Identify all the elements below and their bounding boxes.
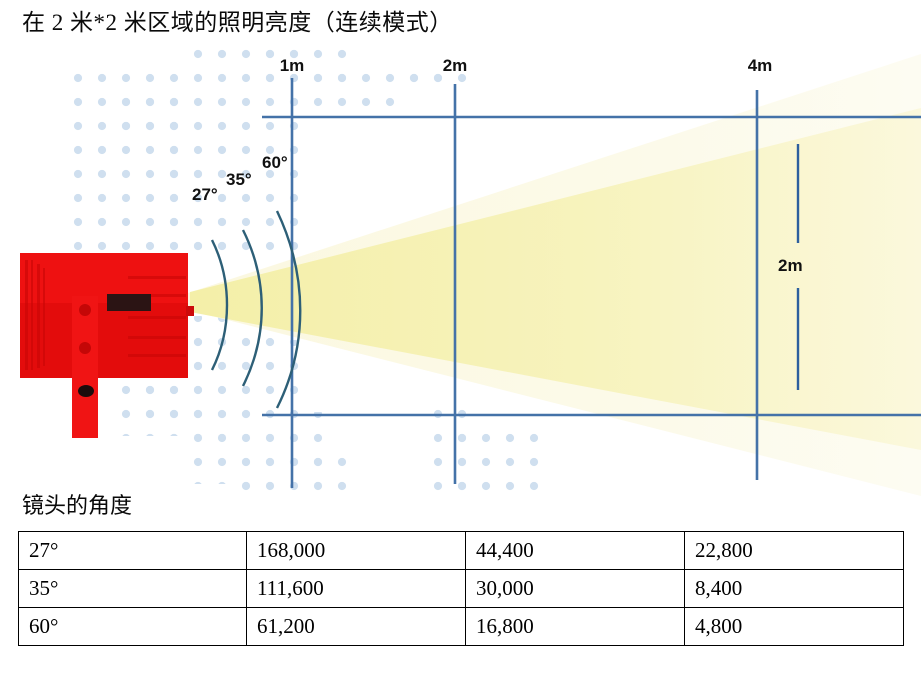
beam-diagram: 1m 2m 4m 27° 35° 60° 2m	[0, 48, 921, 498]
cell-value-4m: 4,800	[685, 608, 904, 646]
cell-angle: 60°	[19, 608, 247, 646]
cell-value-2m: 16,800	[466, 608, 685, 646]
distance-label-2m: 2m	[443, 56, 468, 75]
section-heading-lens-angle: 镜头的角度	[22, 492, 132, 520]
cell-angle: 27°	[19, 532, 247, 570]
table-row: 35° 111,600 30,000 8,400	[19, 570, 904, 608]
illuminance-table: 27° 168,000 44,400 22,800 35° 111,600 30…	[18, 531, 904, 646]
cell-value-2m: 30,000	[466, 570, 685, 608]
distance-label-1m: 1m	[280, 56, 305, 75]
cell-value-1m: 168,000	[247, 532, 466, 570]
cell-value-1m: 111,600	[247, 570, 466, 608]
cell-value-4m: 8,400	[685, 570, 904, 608]
angle-label-27: 27°	[192, 185, 218, 204]
table-row: 27° 168,000 44,400 22,800	[19, 532, 904, 570]
angle-label-60: 60°	[262, 153, 288, 172]
page-title: 在 2 米*2 米区域的照明亮度（连续模式）	[22, 8, 453, 38]
fixture-label-plate	[107, 294, 151, 311]
height-label-2m: 2m	[778, 256, 803, 275]
table-row: 60° 61,200 16,800 4,800	[19, 608, 904, 646]
distance-label-4m: 4m	[748, 56, 773, 75]
cell-value-1m: 61,200	[247, 608, 466, 646]
cell-value-4m: 22,800	[685, 532, 904, 570]
cell-value-2m: 44,400	[466, 532, 685, 570]
cell-angle: 35°	[19, 570, 247, 608]
angle-label-35: 35°	[226, 170, 252, 189]
